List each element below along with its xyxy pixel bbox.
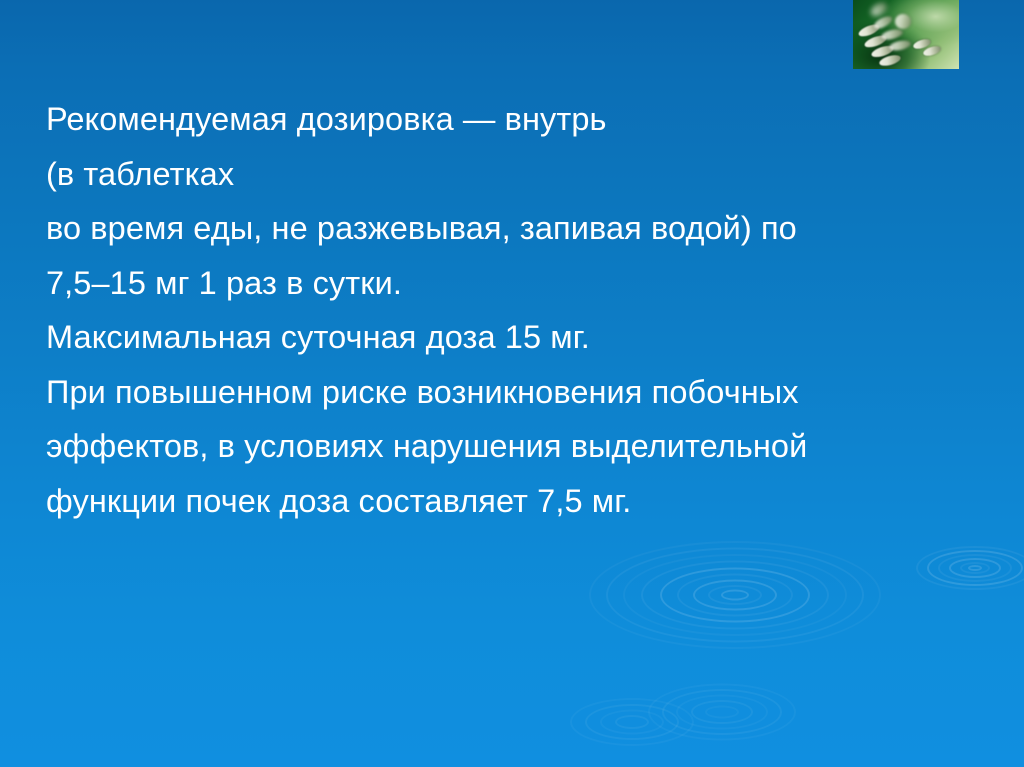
ripple-ring bbox=[606, 548, 864, 643]
body-line: эффектов, в условиях нарушения выделител… bbox=[46, 419, 981, 474]
ripple-ring bbox=[585, 704, 679, 740]
body-line: Максимальная суточная доза 15 мг. bbox=[46, 310, 981, 365]
ripple-ring bbox=[968, 565, 982, 571]
body-line: (в таблетках bbox=[46, 147, 981, 202]
ripple-ring bbox=[662, 689, 782, 735]
ripple-ring bbox=[641, 561, 829, 630]
slide-body-text: Рекомендуемая дозировка — внутрь (в табл… bbox=[46, 92, 981, 528]
ripple-ring bbox=[916, 546, 1024, 590]
body-line: При повышенном риске возникновения побоч… bbox=[46, 365, 981, 420]
ripple-ring bbox=[623, 554, 847, 636]
ripple-ring bbox=[600, 710, 664, 735]
ripple-ring bbox=[676, 695, 768, 730]
ripple-ring bbox=[927, 550, 1023, 586]
ripple-ring bbox=[615, 715, 649, 729]
ripple-ring bbox=[589, 541, 881, 649]
ripple-ring bbox=[949, 558, 1001, 578]
ripple-ring bbox=[693, 580, 777, 611]
ripple-ring bbox=[648, 684, 796, 741]
pills-photo-thumbnail bbox=[853, 0, 959, 69]
ripple-ring bbox=[938, 554, 1012, 582]
ripple-ring bbox=[960, 562, 990, 574]
ripple-ring bbox=[570, 698, 694, 746]
body-line: Рекомендуемая дозировка — внутрь bbox=[46, 92, 981, 147]
ripple-ring bbox=[660, 568, 810, 623]
ripple-ring bbox=[677, 574, 793, 617]
body-line: во время еды, не разжевывая, запивая вод… bbox=[46, 201, 981, 256]
body-line: функции почек доза составляет 7,5 мг. bbox=[46, 474, 981, 529]
capsule-shape bbox=[895, 14, 911, 29]
ripple-ring bbox=[691, 700, 753, 724]
presentation-slide: Рекомендуемая дозировка — внутрь (в табл… bbox=[0, 0, 1024, 767]
ripple-ring bbox=[708, 585, 762, 605]
body-line: 7,5–15 мг 1 раз в сутки. bbox=[46, 256, 981, 311]
ripple-ring bbox=[705, 706, 739, 719]
ripple-ring bbox=[721, 590, 749, 601]
